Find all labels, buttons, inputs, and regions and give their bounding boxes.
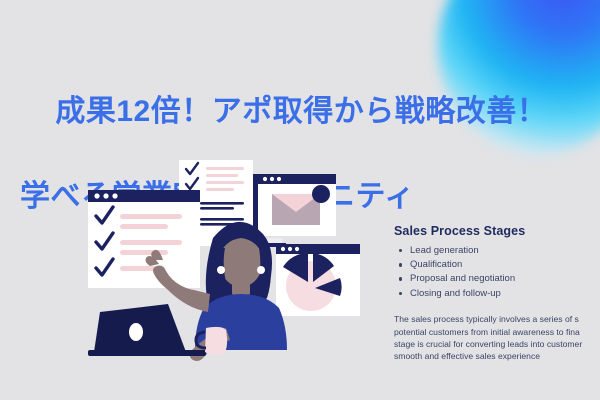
list-item: Qualification [394,259,600,271]
mail-browser-window [258,174,336,236]
pie-chart-browser-window [276,244,360,316]
paragraph-line: potential customers from initial awarene… [394,326,600,338]
laptop [88,304,206,356]
paragraph-line: stage is crucial for converting leads in… [394,338,600,350]
paragraph-line: smooth and effective sales experience [394,350,600,362]
screenshot-canvas: 成果12倍！アポ取得から戦略改善！ 学べる営業実践コミュニティ [0,0,600,400]
notification-dot [312,185,330,203]
list-item: Proposal and negotiation [394,273,600,285]
checklist-browser-window [88,190,200,288]
sales-process-heading: Sales Process Stages [394,224,600,238]
sales-training-illustration [80,160,380,390]
list-item: Closing and follow-up [394,288,600,300]
sales-process-paragraph: The sales process typically involves a s… [394,313,600,363]
page-title-line-1: 成果12倍！アポ取得から戦略改善！ [55,95,547,128]
sales-process-panel: Sales Process Stages Lead generation Qua… [394,224,600,363]
paragraph-line: The sales process typically involves a s… [394,313,600,325]
list-item: Lead generation [394,245,600,257]
sales-process-bullet-list: Lead generation Qualification Proposal a… [394,245,600,299]
